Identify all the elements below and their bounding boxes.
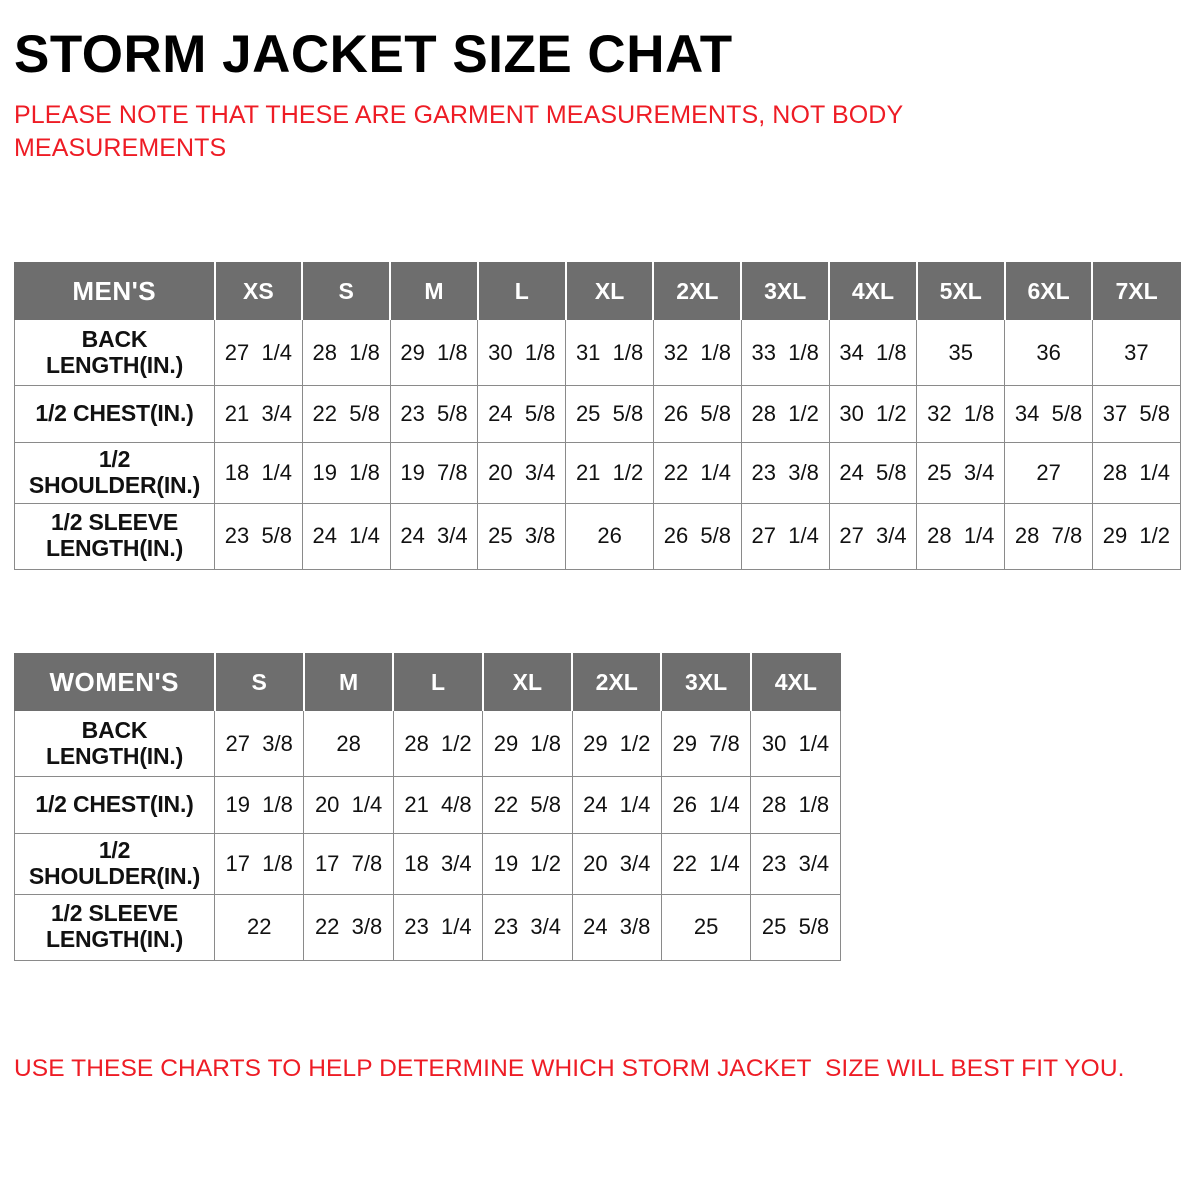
measurement-cell: 20 1/4 — [304, 777, 393, 834]
womens-size-table-container: WOMEN'SSMLXL2XL3XL4XL BACK LENGTH(IN.)27… — [14, 653, 840, 961]
column-header-3xl: 3XL — [661, 654, 750, 711]
table-row: 1/2 SHOULDER(IN.)17 1/817 7/818 3/419 1/… — [15, 834, 841, 895]
measurement-cell: 28 1/8 — [751, 777, 840, 834]
womens-header-row: WOMEN'SSMLXL2XL3XL4XL — [15, 654, 841, 711]
row-label: 1/2 SHOULDER(IN.) — [15, 443, 215, 504]
measurement-cell: 29 7/8 — [661, 711, 750, 777]
measurement-cell: 23 5/8 — [390, 386, 478, 443]
measurement-cell: 23 1/4 — [393, 894, 482, 960]
column-header-xl: XL — [566, 263, 654, 320]
measurement-cell: 24 3/4 — [390, 503, 478, 569]
measurement-cell: 22 1/4 — [661, 834, 750, 895]
mens-header-row: MEN'SXSSMLXL2XL3XL4XL5XL6XL7XL — [15, 263, 1181, 320]
measurement-cell: 30 1/4 — [751, 711, 840, 777]
measurement-cell: 27 — [1005, 443, 1093, 504]
measurement-cell: 24 1/4 — [302, 503, 390, 569]
measurement-cell: 28 1/2 — [741, 386, 829, 443]
womens-table-head: WOMEN'SSMLXL2XL3XL4XL — [15, 654, 841, 711]
measurement-cell: 30 1/2 — [829, 386, 917, 443]
column-header-xs: XS — [215, 263, 303, 320]
table-row: 1/2 SLEEVE LENGTH(IN.)2222 3/823 1/423 3… — [15, 894, 841, 960]
column-header-4xl: 4XL — [829, 263, 917, 320]
measurement-cell: 22 1/4 — [653, 443, 741, 504]
measurement-cell: 21 3/4 — [215, 386, 303, 443]
column-header-m: M — [304, 654, 393, 711]
measurement-cell: 30 1/8 — [478, 320, 566, 386]
measurement-cell: 25 — [661, 894, 750, 960]
measurement-cell: 27 1/4 — [741, 503, 829, 569]
column-header-7xl: 7XL — [1092, 263, 1180, 320]
measurement-cell: 24 5/8 — [478, 386, 566, 443]
table-row: 1/2 CHEST(IN.)19 1/820 1/421 4/822 5/824… — [15, 777, 841, 834]
measurement-cell: 27 3/8 — [215, 711, 304, 777]
measurement-cell: 26 5/8 — [653, 386, 741, 443]
column-header-6xl: 6XL — [1005, 263, 1093, 320]
row-label: 1/2 SLEEVE LENGTH(IN.) — [15, 894, 215, 960]
measurement-cell: 32 1/8 — [653, 320, 741, 386]
measurement-cell: 25 5/8 — [751, 894, 840, 960]
measurement-cell: 32 1/8 — [917, 386, 1005, 443]
measurement-cell: 25 5/8 — [566, 386, 654, 443]
measurement-cell: 26 5/8 — [653, 503, 741, 569]
measurement-cell: 21 4/8 — [393, 777, 482, 834]
measurement-cell: 22 5/8 — [302, 386, 390, 443]
row-label: 1/2 CHEST(IN.) — [15, 777, 215, 834]
measurement-cell: 19 1/8 — [302, 443, 390, 504]
measurement-cell: 28 1/8 — [302, 320, 390, 386]
row-label: 1/2 SLEEVE LENGTH(IN.) — [15, 503, 215, 569]
column-header-2xl: 2XL — [572, 654, 661, 711]
table-row: BACK LENGTH(IN.)27 1/428 1/829 1/830 1/8… — [15, 320, 1181, 386]
table-row: 1/2 CHEST(IN.)21 3/422 5/823 5/824 5/825… — [15, 386, 1181, 443]
footer-note: USE THESE CHARTS TO HELP DETERMINE WHICH… — [14, 1055, 1125, 1083]
measurement-cell: 20 3/4 — [478, 443, 566, 504]
measurement-cell: 29 1/8 — [390, 320, 478, 386]
measurement-cell: 26 — [566, 503, 654, 569]
measurement-cell: 28 1/4 — [1092, 443, 1180, 504]
measurement-cell: 28 1/2 — [393, 711, 482, 777]
measurement-cell: 33 1/8 — [741, 320, 829, 386]
measurement-cell: 23 3/4 — [483, 894, 572, 960]
measurement-cell: 31 1/8 — [566, 320, 654, 386]
measurement-cell: 28 1/4 — [917, 503, 1005, 569]
measurement-cell: 29 1/2 — [572, 711, 661, 777]
column-header-s: S — [302, 263, 390, 320]
measurement-cell: 23 3/8 — [741, 443, 829, 504]
size-chart-page: STORM JACKET SIZE CHAT PLEASE NOTE THAT … — [0, 0, 1200, 1200]
mens-size-table-container: MEN'SXSSMLXL2XL3XL4XL5XL6XL7XL BACK LENG… — [14, 262, 1180, 570]
measurement-cell: 22 3/8 — [304, 894, 393, 960]
measurement-cell: 37 — [1092, 320, 1180, 386]
mens-size-table: MEN'SXSSMLXL2XL3XL4XL5XL6XL7XL BACK LENG… — [14, 262, 1181, 570]
measurement-cell: 22 5/8 — [483, 777, 572, 834]
column-header-s: S — [215, 654, 304, 711]
measurement-cell: 19 1/2 — [483, 834, 572, 895]
womens-table-body: BACK LENGTH(IN.)27 3/82828 1/229 1/829 1… — [15, 711, 841, 961]
column-header-3xl: 3XL — [741, 263, 829, 320]
measurement-cell: 19 1/8 — [215, 777, 304, 834]
column-header-5xl: 5XL — [917, 263, 1005, 320]
measurement-cell: 27 3/4 — [829, 503, 917, 569]
table-row: 1/2 SLEEVE LENGTH(IN.)23 5/824 1/424 3/4… — [15, 503, 1181, 569]
column-header-4xl: 4XL — [751, 654, 840, 711]
table-row: BACK LENGTH(IN.)27 3/82828 1/229 1/829 1… — [15, 711, 841, 777]
measurement-cell: 23 3/4 — [751, 834, 840, 895]
measurement-cell: 28 — [304, 711, 393, 777]
column-header-l: L — [478, 263, 566, 320]
measurement-cell: 20 3/4 — [572, 834, 661, 895]
mens-table-corner-label: MEN'S — [15, 263, 215, 320]
measurement-cell: 25 3/4 — [917, 443, 1005, 504]
row-label: 1/2 CHEST(IN.) — [15, 386, 215, 443]
measurement-cell: 28 7/8 — [1005, 503, 1093, 569]
measurement-cell: 23 5/8 — [215, 503, 303, 569]
row-label: 1/2 SHOULDER(IN.) — [15, 834, 215, 895]
measurement-cell: 21 1/2 — [566, 443, 654, 504]
womens-table-corner-label: WOMEN'S — [15, 654, 215, 711]
measurement-cell: 35 — [917, 320, 1005, 386]
garment-measurement-note: PLEASE NOTE THAT THESE ARE GARMENT MEASU… — [14, 81, 994, 165]
womens-size-table: WOMEN'SSMLXL2XL3XL4XL BACK LENGTH(IN.)27… — [14, 653, 841, 961]
measurement-cell: 29 1/8 — [483, 711, 572, 777]
column-header-m: M — [390, 263, 478, 320]
table-row: 1/2 SHOULDER(IN.)18 1/419 1/819 7/820 3/… — [15, 443, 1181, 504]
measurement-cell: 24 3/8 — [572, 894, 661, 960]
measurement-cell: 24 5/8 — [829, 443, 917, 504]
measurement-cell: 34 1/8 — [829, 320, 917, 386]
column-header-xl: XL — [483, 654, 572, 711]
measurement-cell: 17 1/8 — [215, 834, 304, 895]
measurement-cell: 29 1/2 — [1092, 503, 1180, 569]
column-header-l: L — [393, 654, 482, 711]
column-header-2xl: 2XL — [653, 263, 741, 320]
measurement-cell: 36 — [1005, 320, 1093, 386]
measurement-cell: 18 3/4 — [393, 834, 482, 895]
mens-table-head: MEN'SXSSMLXL2XL3XL4XL5XL6XL7XL — [15, 263, 1181, 320]
measurement-cell: 25 3/8 — [478, 503, 566, 569]
measurement-cell: 19 7/8 — [390, 443, 478, 504]
mens-table-body: BACK LENGTH(IN.)27 1/428 1/829 1/830 1/8… — [15, 320, 1181, 570]
measurement-cell: 26 1/4 — [661, 777, 750, 834]
measurement-cell: 24 1/4 — [572, 777, 661, 834]
row-label: BACK LENGTH(IN.) — [15, 320, 215, 386]
measurement-cell: 18 1/4 — [215, 443, 303, 504]
measurement-cell: 34 5/8 — [1005, 386, 1093, 443]
measurement-cell: 37 5/8 — [1092, 386, 1180, 443]
measurement-cell: 22 — [215, 894, 304, 960]
measurement-cell: 17 7/8 — [304, 834, 393, 895]
measurement-cell: 27 1/4 — [215, 320, 303, 386]
row-label: BACK LENGTH(IN.) — [15, 711, 215, 777]
page-title: STORM JACKET SIZE CHAT — [14, 0, 1186, 81]
